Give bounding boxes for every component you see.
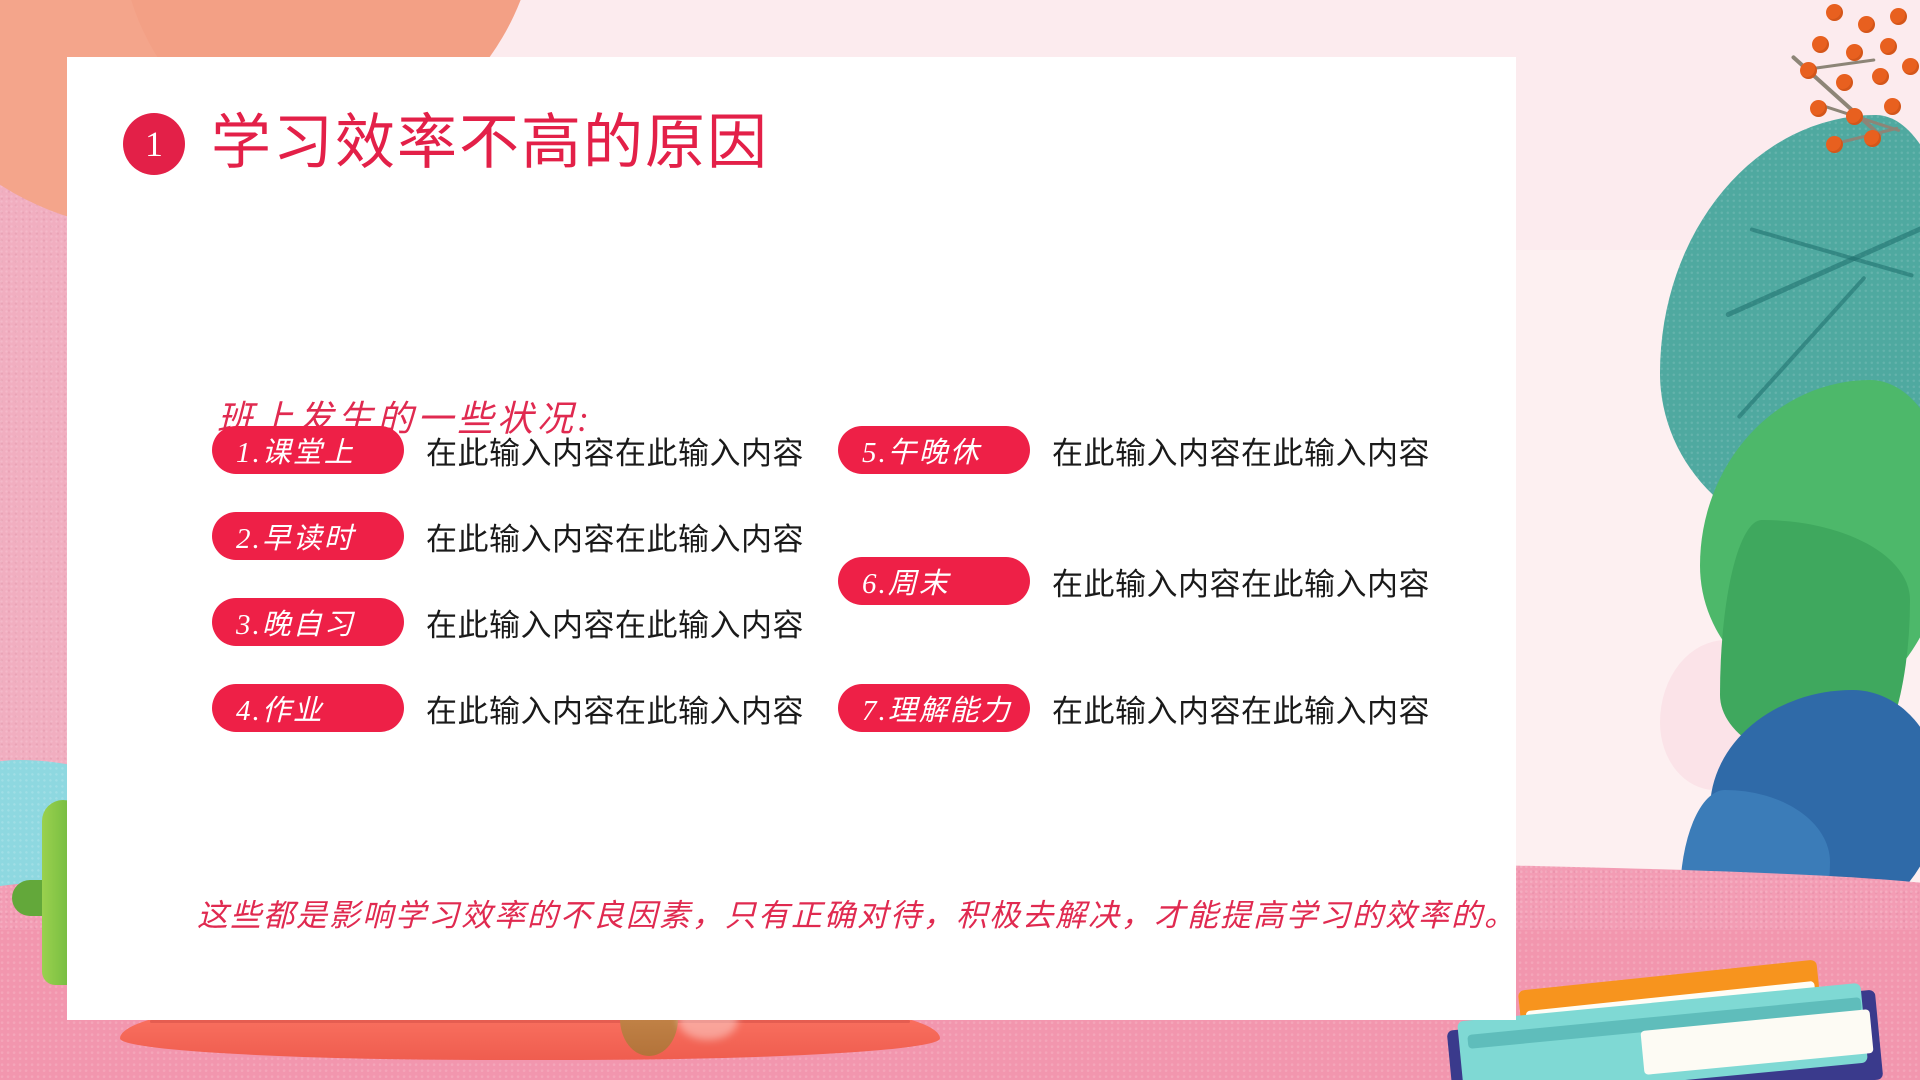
item-label-badge[interactable]: 1.课堂上 [212,426,404,474]
list-item[interactable]: 3.晚自习 在此输入内容在此输入内容 [212,598,804,646]
pencil-stripe-secondary [150,1020,910,1023]
item-label-badge[interactable]: 3.晚自习 [212,598,404,646]
list-item[interactable]: 6.周末 在此输入内容在此输入内容 [838,557,1430,605]
footer-note: 这些都是影响学习效率的不良因素，只有正确对待，积极去解决，才能提高学习的效率的。 [197,890,1517,935]
list-item[interactable]: 2.早读时 在此输入内容在此输入内容 [212,512,804,560]
page-title: 学习效率不高的原因 [211,112,769,176]
item-description: 在此输入内容在此输入内容 [1052,559,1430,604]
item-description: 在此输入内容在此输入内容 [426,600,804,645]
list-item[interactable]: 1.课堂上 在此输入内容在此输入内容 [212,426,804,474]
item-description: 在此输入内容在此输入内容 [1052,686,1430,731]
content-card: 1 学习效率不高的原因 班上发生的一些状况: 1.课堂上 在此输入内容在此输入内… [67,57,1516,1020]
item-label-badge[interactable]: 2.早读时 [212,512,404,560]
list-item[interactable]: 4.作业 在此输入内容在此输入内容 [212,684,804,732]
item-label-badge[interactable]: 5.午晚休 [838,426,1030,474]
item-label-badge[interactable]: 4.作业 [212,684,404,732]
item-description: 在此输入内容在此输入内容 [426,428,804,473]
item-description: 在此输入内容在此输入内容 [426,686,804,731]
list-item[interactable]: 5.午晚休 在此输入内容在此输入内容 [838,426,1430,474]
item-description: 在此输入内容在此输入内容 [426,514,804,559]
page-title-row: 1 学习效率不高的原因 [123,112,769,176]
slide-canvas: 1 学习效率不高的原因 班上发生的一些状况: 1.课堂上 在此输入内容在此输入内… [0,0,1920,1080]
item-label-badge[interactable]: 6.周末 [838,557,1030,605]
item-label-badge[interactable]: 7.理解能力 [838,684,1030,732]
item-description: 在此输入内容在此输入内容 [1052,428,1430,473]
list-item[interactable]: 7.理解能力 在此输入内容在此输入内容 [838,684,1430,732]
title-number-badge: 1 [123,113,185,175]
